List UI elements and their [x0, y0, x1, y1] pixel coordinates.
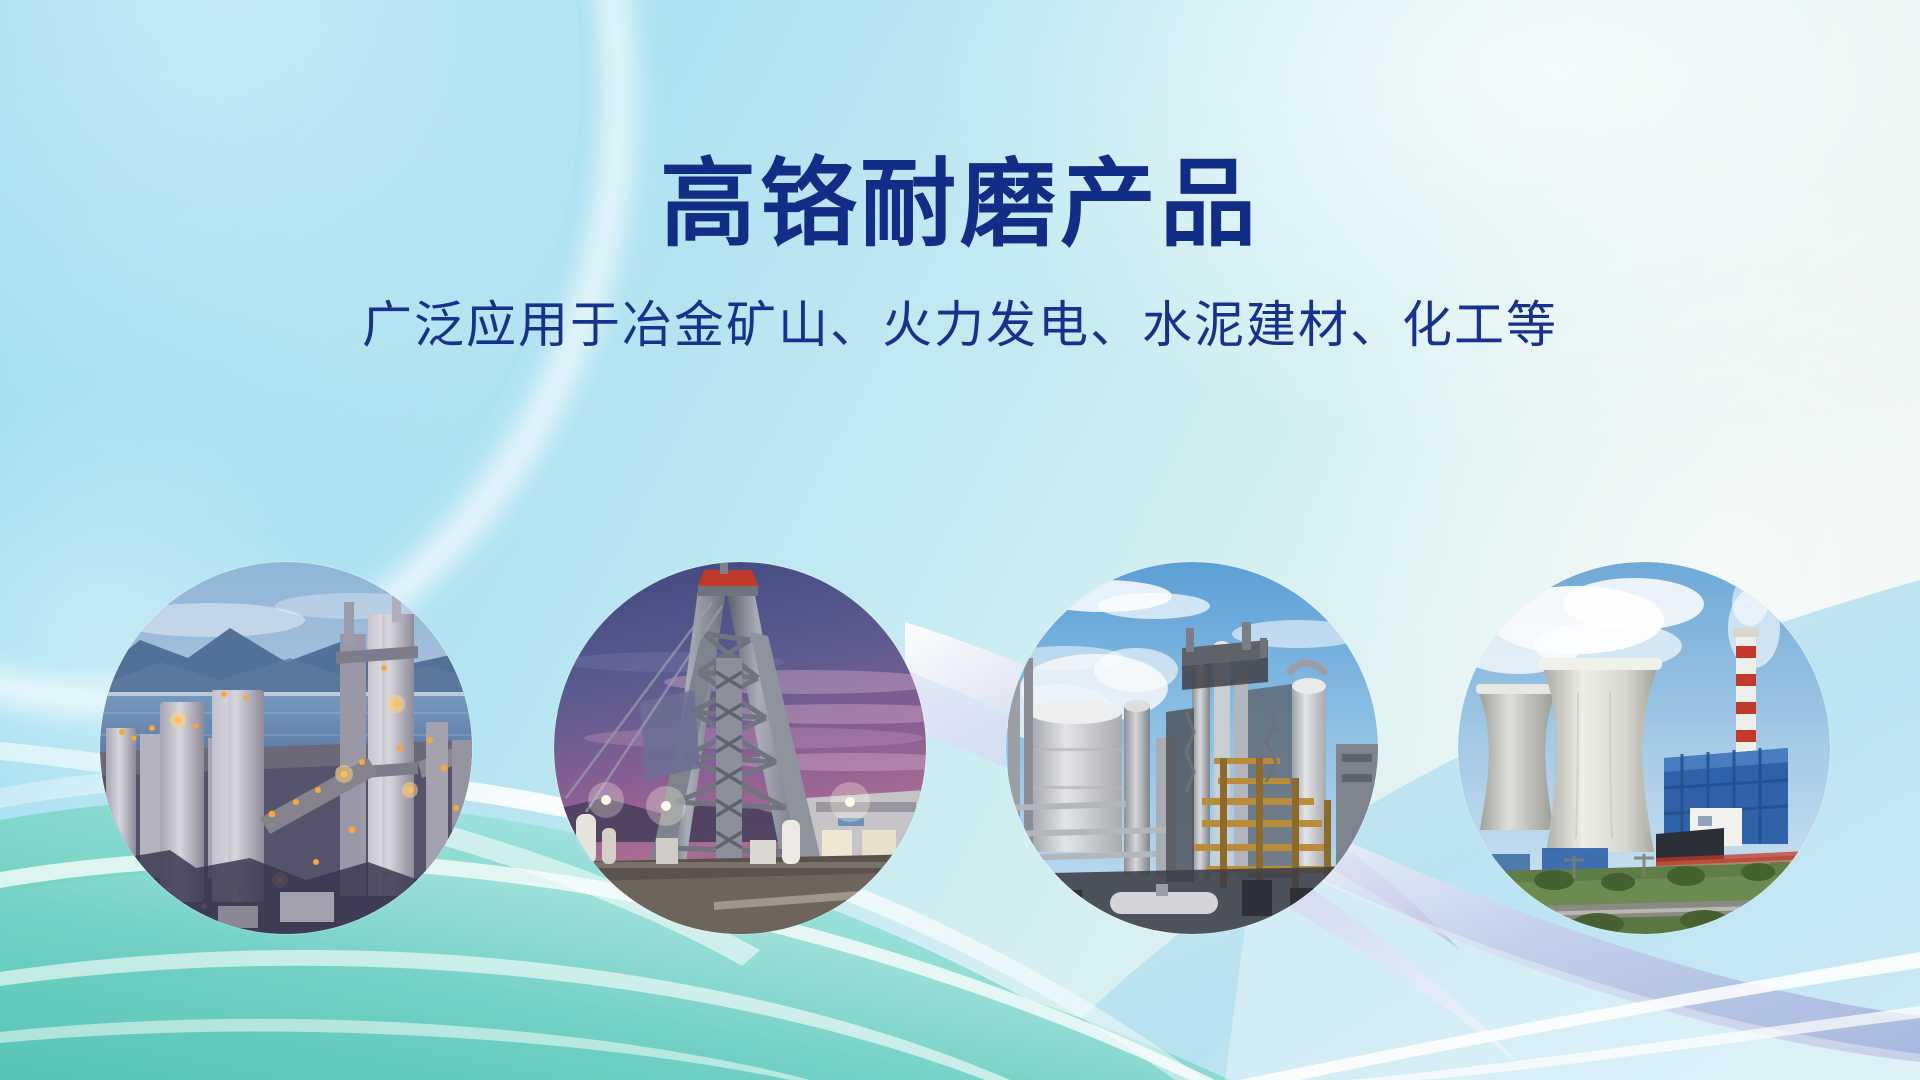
page-subtitle: 广泛应用于冶金矿山、火力发电、水泥建材、化工等: [0, 294, 1920, 357]
banner-text-block: 高铬耐磨产品 广泛应用于冶金矿山、火力发电、水泥建材、化工等: [0, 150, 1920, 357]
photo-chemical-plant: [1006, 562, 1378, 934]
industry-photo-row: [0, 562, 1920, 934]
photo-power-plant: [1458, 562, 1830, 934]
page-title: 高铬耐磨产品: [0, 150, 1920, 260]
photo-mine-headframe: [554, 562, 926, 934]
promo-banner: 高铬耐磨产品 广泛应用于冶金矿山、火力发电、水泥建材、化工等: [0, 0, 1920, 1080]
photo-cement-plant: [100, 562, 472, 934]
